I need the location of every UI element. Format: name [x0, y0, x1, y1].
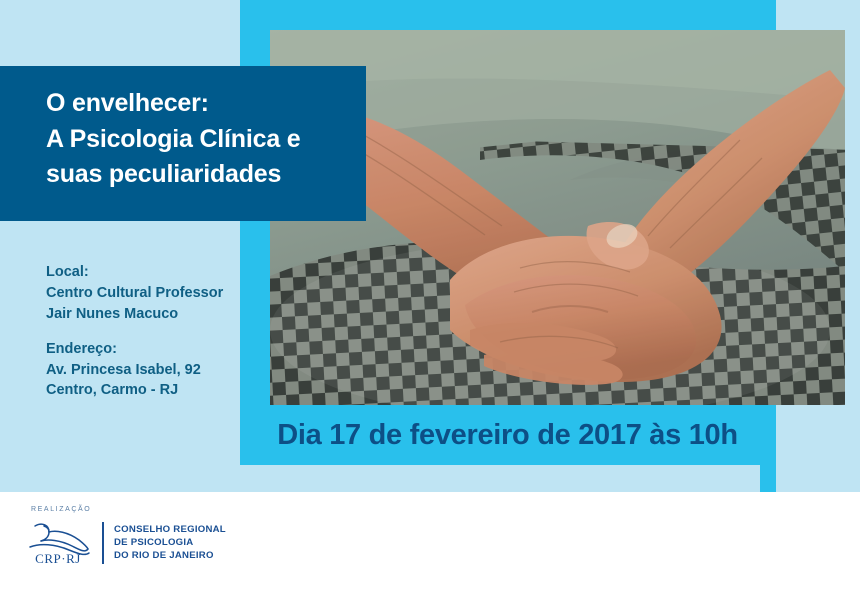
venue-group: Local: Centro Cultural Professor Jair Nu… [46, 262, 246, 325]
venue-info: Local: Centro Cultural Professor Jair Nu… [46, 262, 246, 415]
realizacao-label: REALIZAÇÃO [31, 506, 91, 513]
logo-word-line-1: CONSELHO REGIONAL [114, 523, 226, 536]
title-line-2: A Psicologia Clínica e [46, 122, 342, 158]
crp-bird-mark-icon: CRP·RJ [22, 520, 94, 566]
title-line-3: suas peculiaridades [46, 157, 342, 193]
address-label: Endereço: [46, 339, 246, 360]
title-box: O envelhecer: A Psicologia Clínica e sua… [0, 66, 366, 221]
logo-word-line-2: DE PSICOLOGIA [114, 536, 226, 549]
date-banner: Dia 17 de fevereiro de 2017 às 10h [240, 405, 775, 465]
event-date-text: Dia 17 de fevereiro de 2017 às 10h [277, 419, 738, 452]
venue-name-line-2: Jair Nunes Macuco [46, 304, 246, 325]
venue-label: Local: [46, 262, 246, 283]
crp-rj-logo: CRP·RJ CONSELHO REGIONAL DE PSICOLOGIA D… [22, 520, 212, 566]
event-poster: O envelhecer: A Psicologia Clínica e sua… [0, 0, 860, 600]
address-group: Endereço: Av. Princesa Isabel, 92 Centro… [46, 339, 246, 402]
footer: REALIZAÇÃO CRP·RJ CONSELHO REGIONAL DE P… [0, 492, 860, 600]
title-line-1: O envelhecer: [46, 86, 342, 122]
venue-name-line-1: Centro Cultural Professor [46, 283, 246, 304]
svg-text:CRP·RJ: CRP·RJ [35, 551, 81, 566]
address-line-2: Centro, Carmo - RJ [46, 380, 246, 401]
address-line-1: Av. Princesa Isabel, 92 [46, 360, 246, 381]
logo-wordmark: CONSELHO REGIONAL DE PSICOLOGIA DO RIO D… [114, 523, 226, 563]
logo-word-line-3: DO RIO DE JANEIRO [114, 549, 226, 562]
logo-divider [102, 522, 104, 564]
cyan-band-top [240, 0, 775, 30]
